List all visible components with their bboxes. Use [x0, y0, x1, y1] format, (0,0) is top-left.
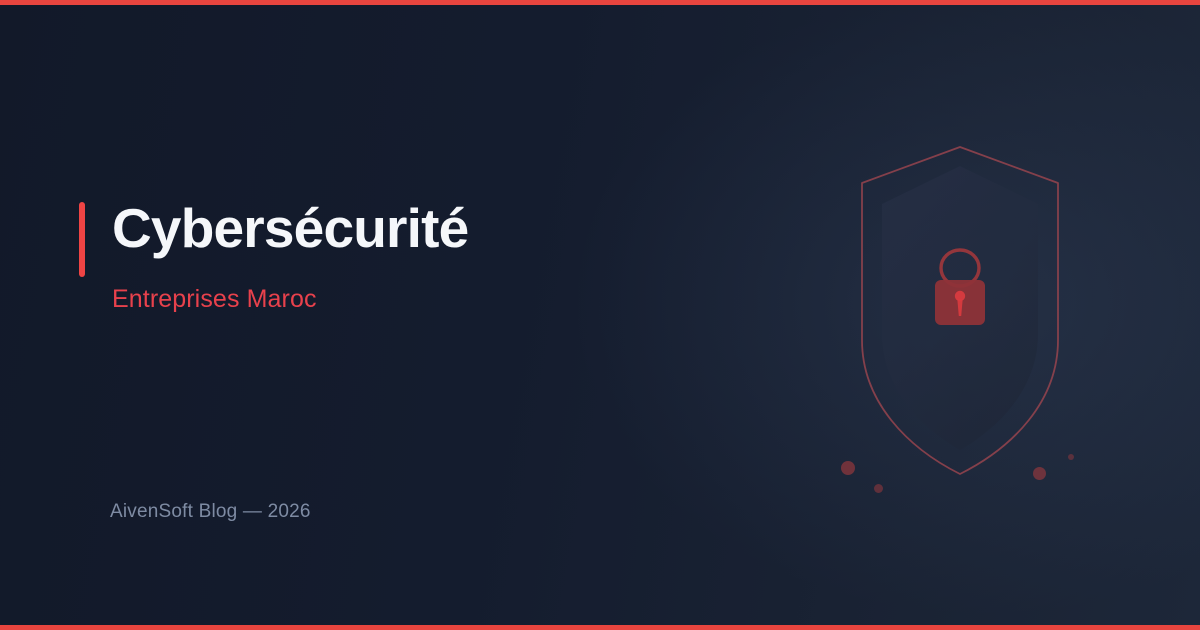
- bottom-accent-edge: [0, 625, 1200, 630]
- blog-banner: Cybersécurité Entreprises Maroc AivenSof…: [0, 0, 1200, 630]
- top-accent-edge: [0, 0, 1200, 5]
- page-subtitle: Entreprises Maroc: [112, 285, 317, 314]
- decorative-dot-2: [874, 484, 883, 493]
- footer-credit: AivenSoft Blog — 2026: [110, 501, 311, 523]
- shield-emblem: [838, 130, 1088, 480]
- accent-bar: [79, 202, 85, 277]
- page-title: Cybersécurité: [112, 199, 468, 258]
